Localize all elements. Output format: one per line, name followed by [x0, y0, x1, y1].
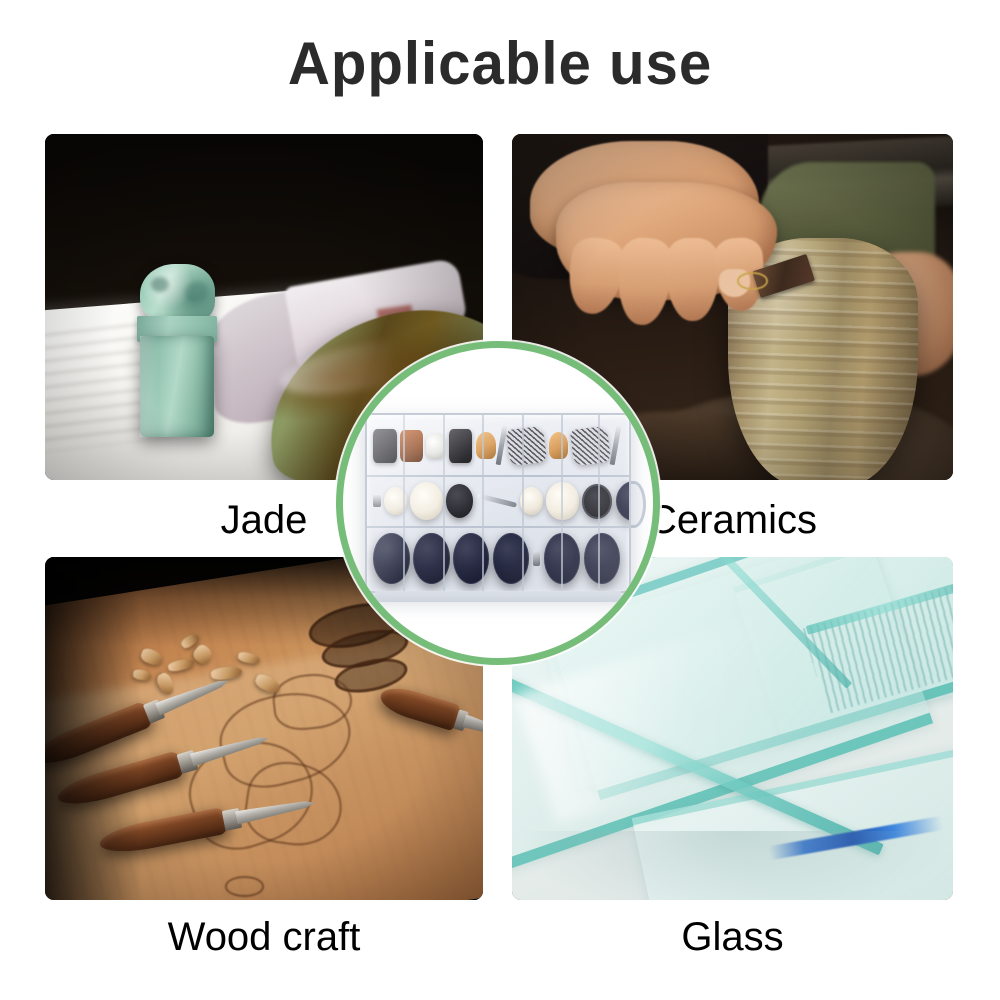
box-shell: [365, 413, 632, 593]
box-compartment-divider: [403, 415, 405, 591]
box-compartment-divider: [522, 415, 524, 591]
accessory-screw-mandrel: [533, 551, 540, 566]
accessory-wire-brush: [506, 426, 548, 466]
box-shelf-line: [367, 526, 630, 528]
accessory-polishing-pad: [584, 533, 620, 584]
box-shelf-line: [367, 475, 630, 477]
box-tier-top: [371, 419, 626, 473]
accessory-wire-brush: [570, 426, 612, 466]
accessory-abrasive-disc: [446, 484, 473, 518]
accessory-polishing-pad: [493, 533, 529, 584]
accessory-polishing-pad: [616, 481, 632, 521]
box-compartment-divider: [443, 415, 445, 591]
accessory-felt-wheel: [520, 487, 542, 515]
accessory-grinding-cone: [476, 432, 496, 459]
accessory-grinding-cone: [549, 432, 569, 459]
infographic-page: Applicable use Jade: [0, 0, 1000, 1000]
accessory-sanding-drum: [373, 429, 397, 463]
box-compartment-divider: [598, 415, 600, 591]
box-tier-middle: [371, 478, 626, 524]
accessory-felt-wheel: [410, 482, 442, 519]
box-tier-bottom: [371, 529, 626, 587]
accessory-mandrel-shaft: [609, 426, 621, 465]
accessory-mandrel-shaft: [496, 426, 508, 465]
page-title: Applicable use: [15, 29, 985, 98]
accessory-screw-mandrel: [373, 495, 380, 507]
glass-shadow: [512, 831, 953, 900]
box-compartment-divider: [482, 415, 484, 591]
product-inset-circle: [336, 341, 660, 665]
box-base-lip: [375, 591, 620, 602]
box-compartment-divider: [561, 415, 563, 591]
product-accessory-box: [365, 413, 632, 593]
caption-wood-craft: Wood craft: [45, 915, 483, 960]
accessory-sanding-drum: [449, 429, 473, 463]
caption-glass: Glass: [512, 915, 953, 960]
